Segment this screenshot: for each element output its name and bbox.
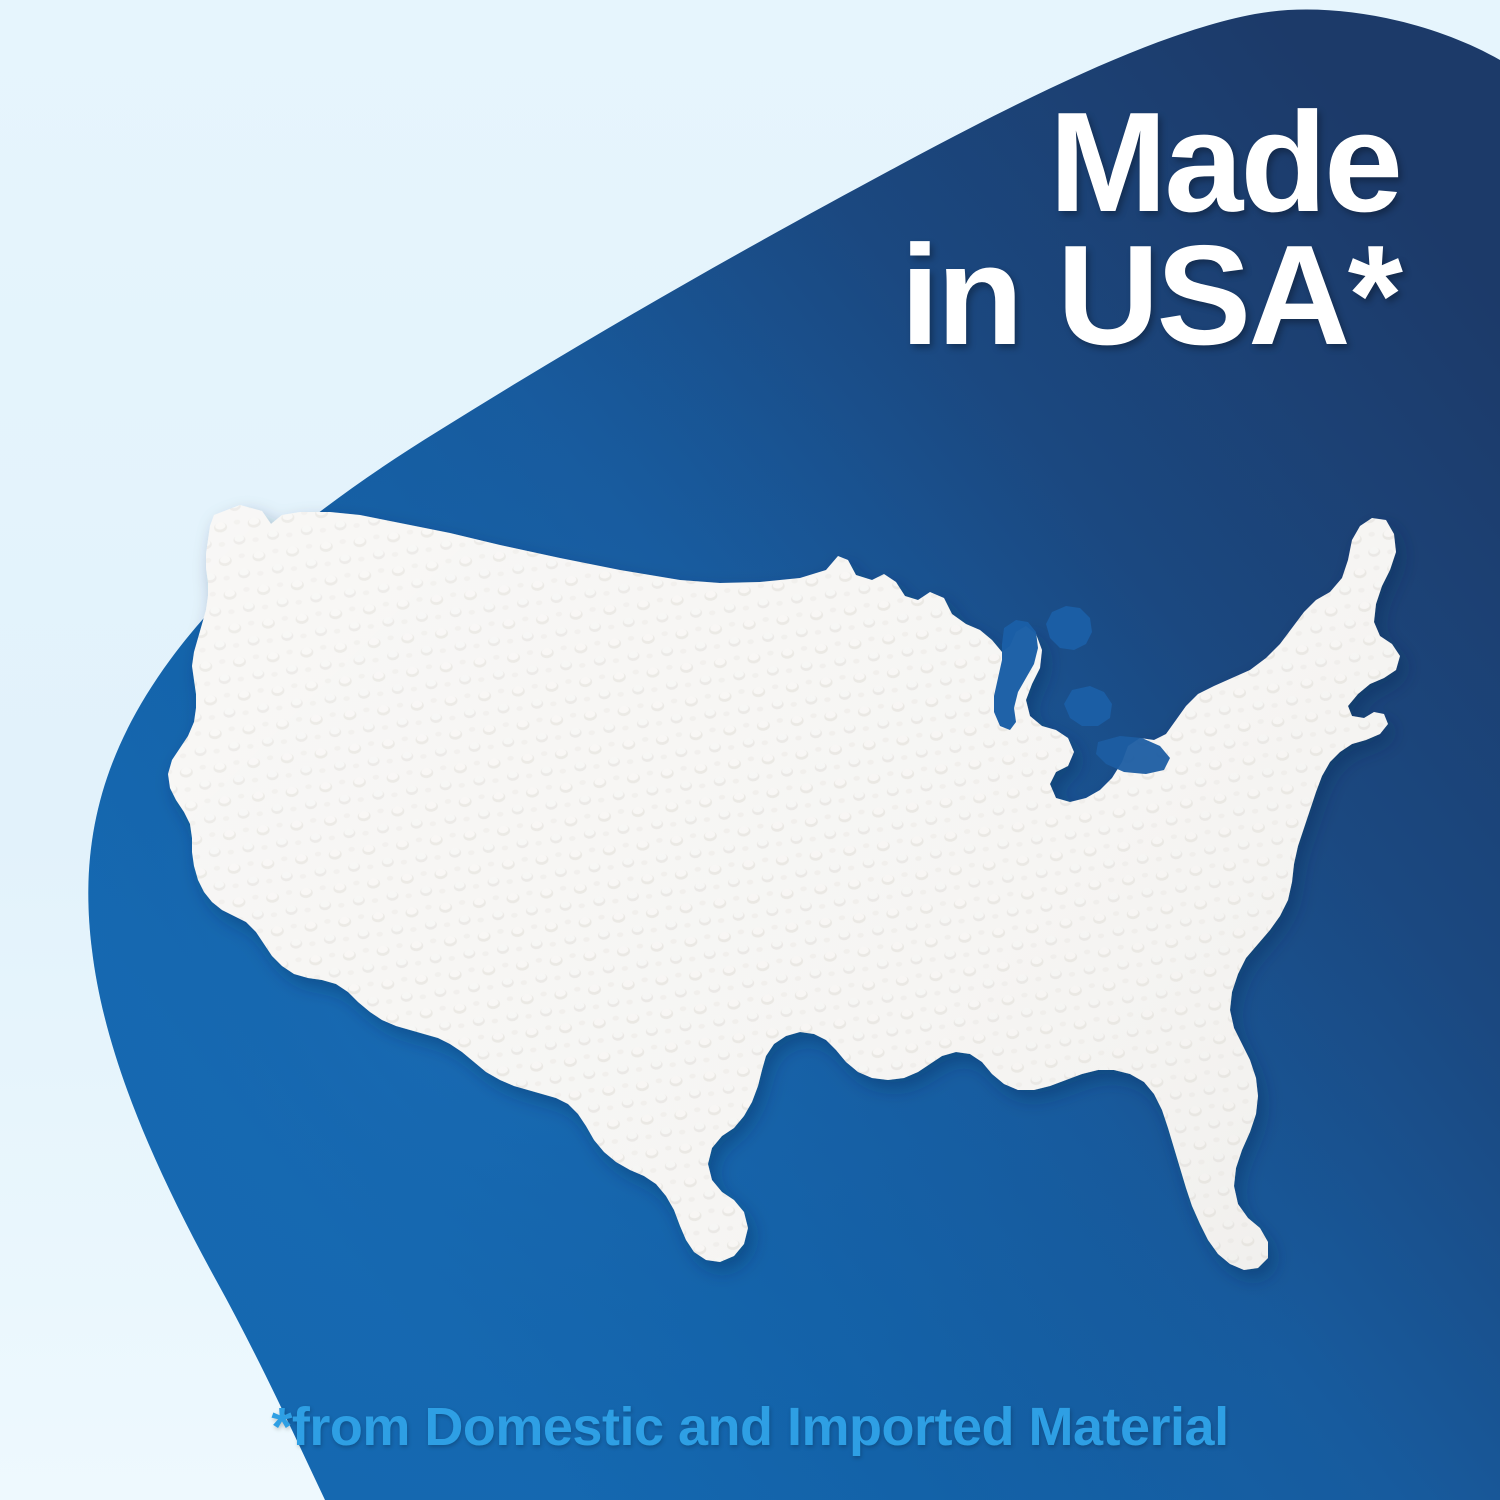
footnote-text: *from Domestic and Imported Material xyxy=(0,1396,1500,1458)
made-in-usa-banner: Made in USA* xyxy=(0,0,1500,1500)
headline: Made in USA* xyxy=(900,96,1400,363)
headline-line-1: Made xyxy=(900,96,1400,229)
headline-line-2: in USA* xyxy=(900,229,1400,362)
